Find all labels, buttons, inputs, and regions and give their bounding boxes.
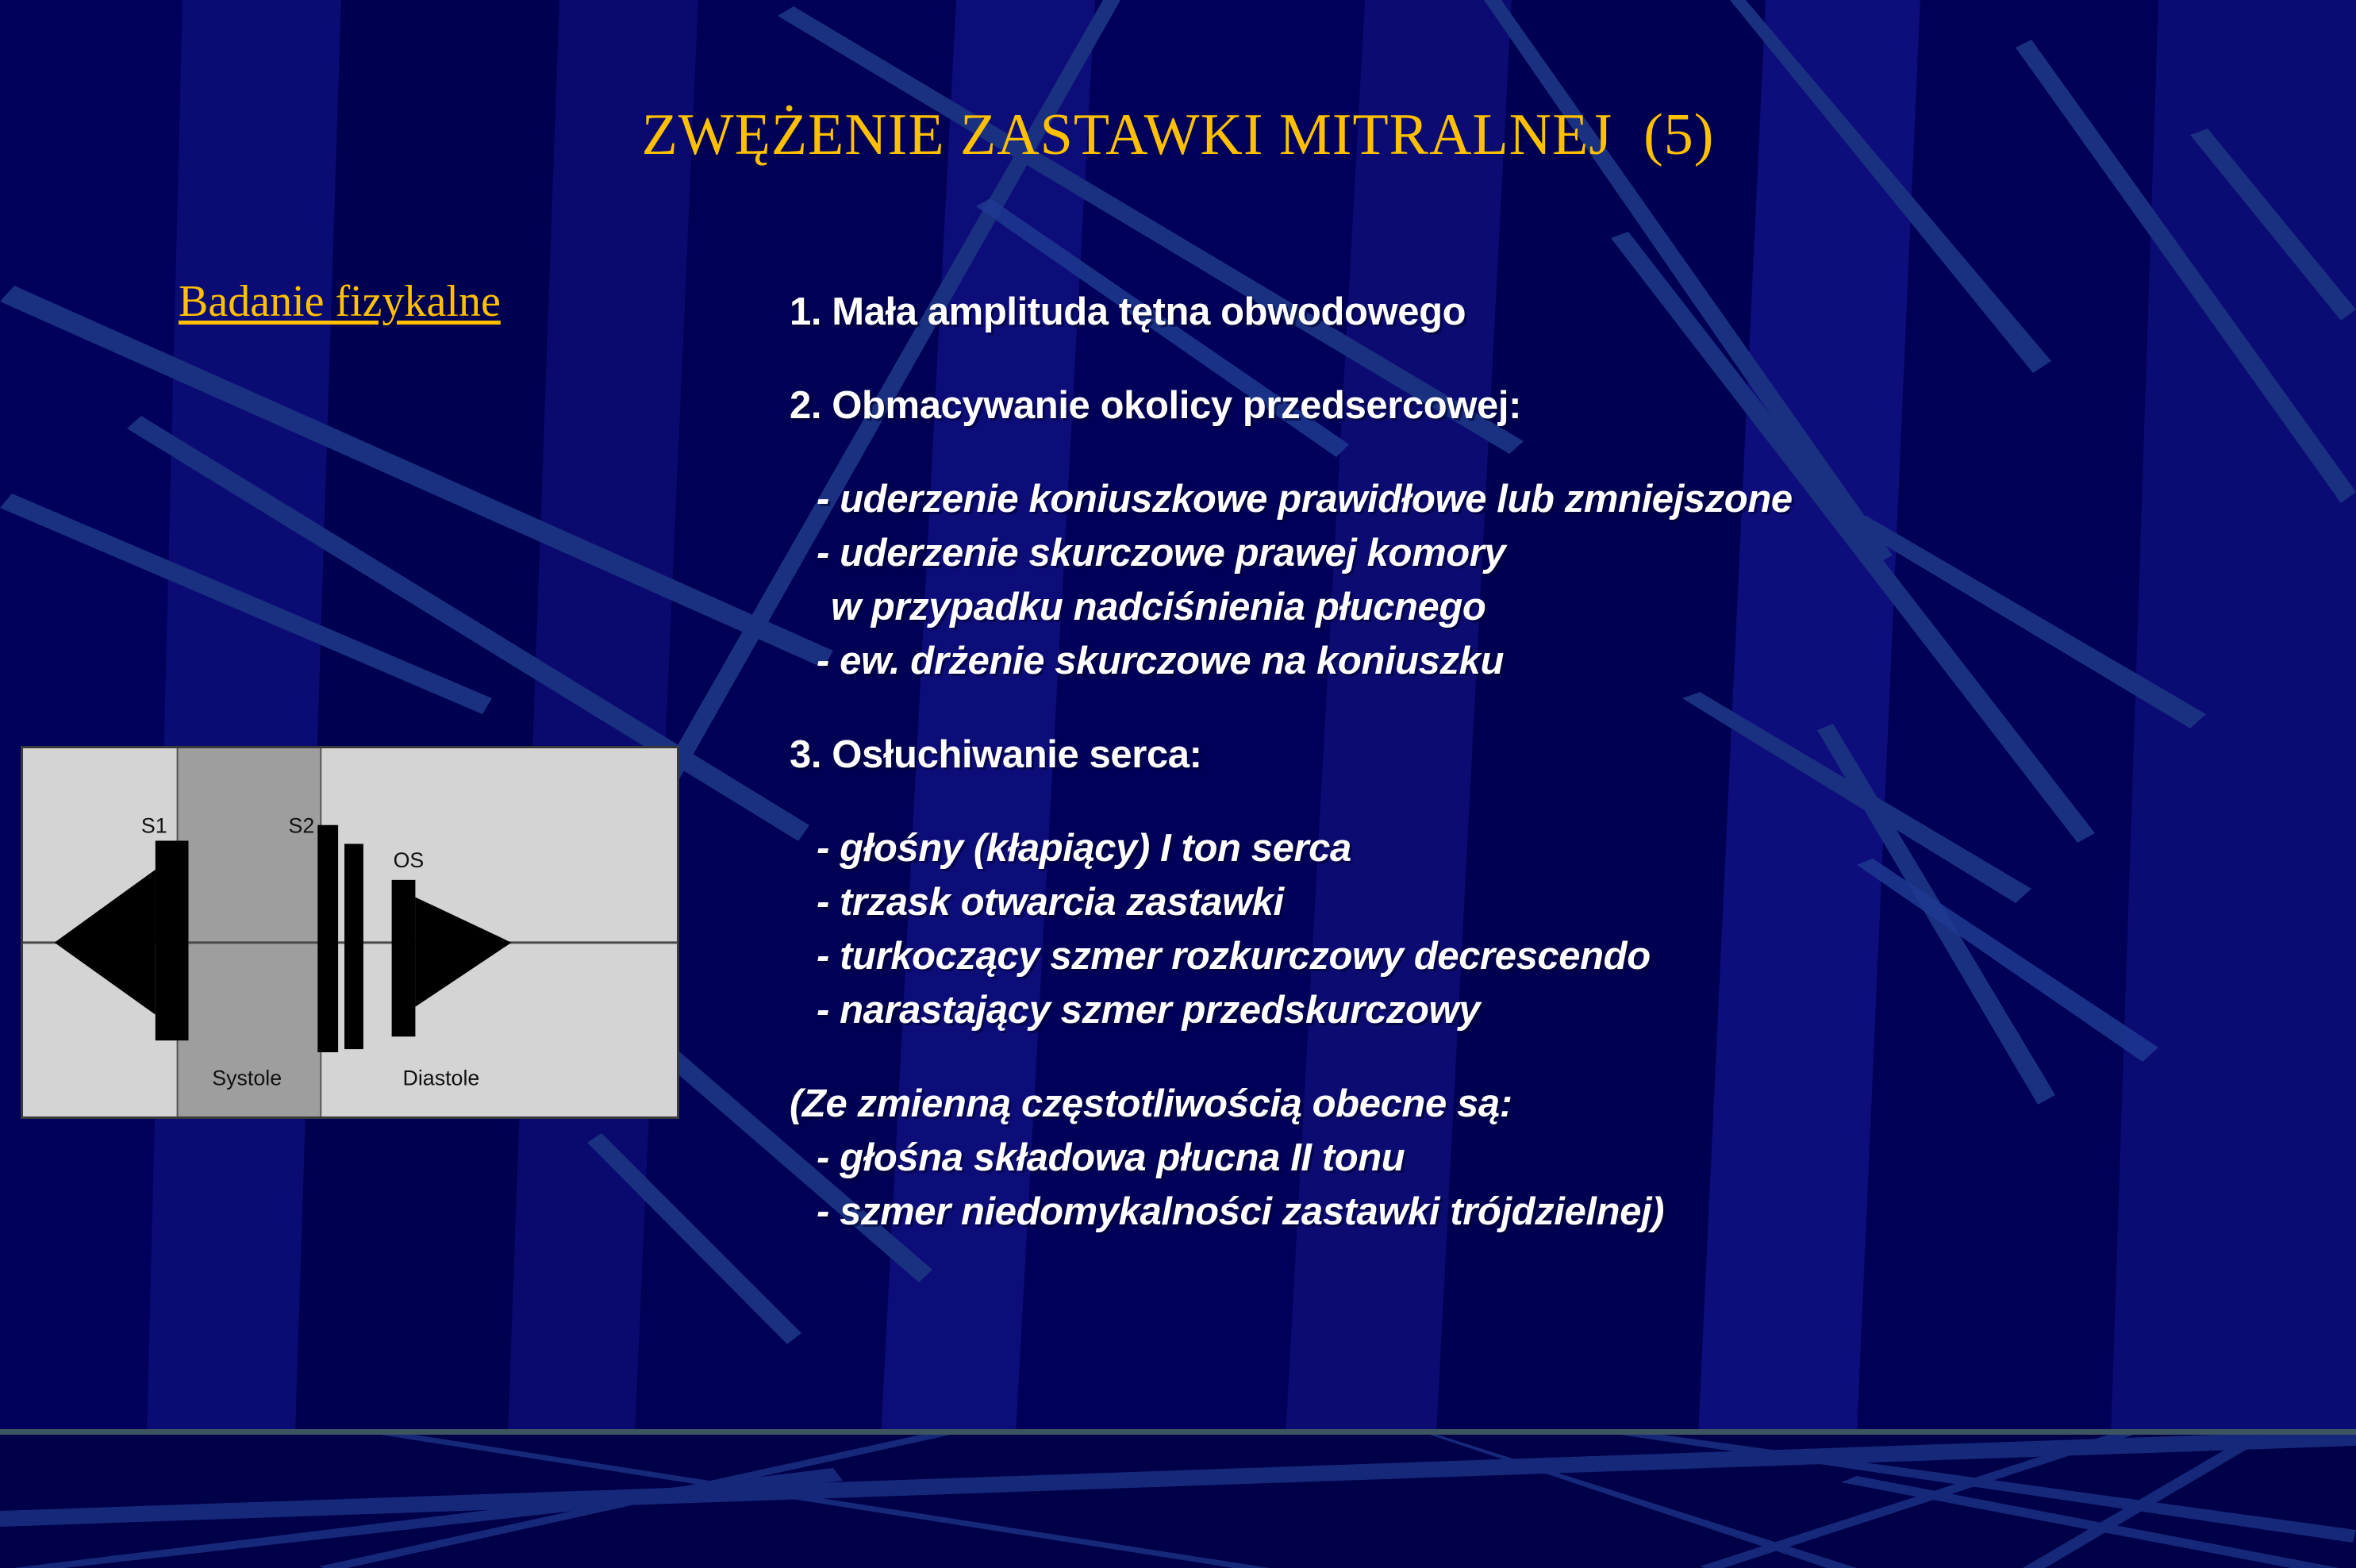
body-line: - uderzenie skurczowe prawej komory	[790, 530, 2297, 576]
body-line: - trzask otwarcia zastawki	[790, 879, 2297, 925]
body-line: - szmer niedomykalności zastawki trójdzi…	[790, 1189, 2297, 1235]
page-title: ZWĘŻENIE ZASTAWKI MITRALNEJ (5)	[0, 102, 2356, 169]
body-line: 1. Mała amplituda tętna obwodowego	[790, 289, 2297, 335]
body-line: 2. Obmacywanie okolicy przedsercowej:	[790, 382, 2297, 429]
body-line: 3. Osłuchiwanie serca:	[790, 732, 2297, 778]
label-systole: Systole	[212, 1066, 282, 1090]
presentation-slide: ZWĘŻENIE ZASTAWKI MITRALNEJ (5) Badanie …	[0, 0, 2356, 1568]
body-line: - ew. drżenie skurczowe na koniuszku	[790, 638, 2297, 684]
footer-divider	[0, 1429, 2356, 1435]
label-s2: S2	[289, 814, 315, 838]
section-subheading: Badanie fizykalne	[179, 276, 501, 327]
label-s1: S1	[141, 814, 167, 838]
body-line: - głośny (kłapiący) I ton serca	[790, 825, 2297, 871]
body-line: w przypadku nadciśnienia płucnego	[790, 584, 2297, 630]
body-line: - narastający szmer przedskurczowy	[790, 987, 2297, 1033]
s1-bar	[156, 840, 189, 1040]
body-content: 1. Mała amplituda tętna obwodowego2. Obm…	[790, 289, 2297, 1235]
body-line: - uderzenie koniuszkowe prawidłowe lub z…	[790, 476, 2297, 522]
s2-bar-2	[344, 844, 363, 1049]
label-os: OS	[394, 848, 425, 872]
body-line: (Ze zmienną częstotliwością obecne są:	[790, 1081, 2297, 1127]
systole-band	[178, 748, 321, 1116]
s2-bar-1	[317, 825, 338, 1052]
footer-decoration	[0, 1435, 2356, 1568]
footer-band	[0, 1435, 2356, 1568]
body-line: - turkoczący szmer rozkurczowy decrescen…	[790, 933, 2297, 979]
phonocardiogram-svg: S1 S2 OS Systole Diastole	[23, 748, 677, 1116]
body-line: - głośna składowa płucna II tonu	[790, 1135, 2297, 1181]
os-bar	[392, 880, 416, 1036]
label-diastole: Diastole	[403, 1066, 480, 1090]
phonocardiogram-figure: S1 S2 OS Systole Diastole	[21, 746, 679, 1119]
